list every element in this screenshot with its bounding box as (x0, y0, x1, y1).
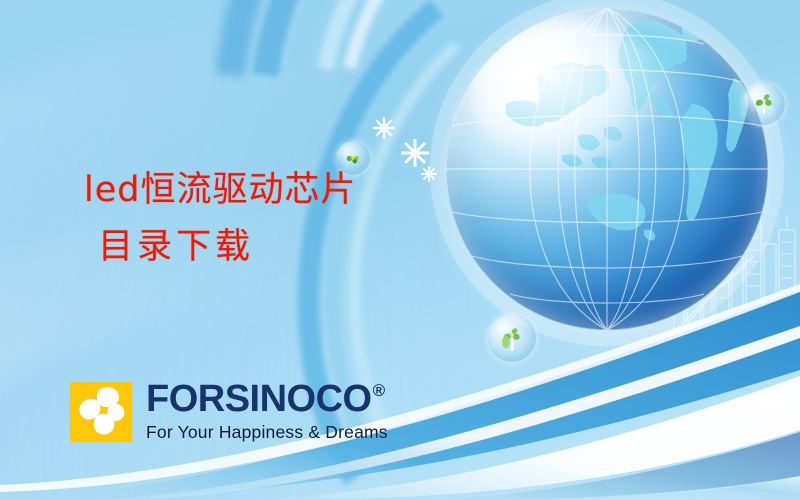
brand-text-block: FORSINOCO ® For Your Happiness & Dreams (146, 380, 388, 442)
globe-sphere (446, 8, 768, 330)
registered-trademark-icon: ® (373, 382, 385, 399)
headline-line-2: 目录下载 (84, 219, 356, 276)
promotional-banner: led恒流驱动芯片 目录下载 FORSINOCO ® For Your Happ… (0, 0, 800, 500)
page-title: led恒流驱动芯片 目录下载 (84, 162, 356, 275)
bubble-eco-icon (743, 83, 785, 125)
four-petal-flower-icon (70, 382, 132, 442)
globe-graticule (446, 8, 768, 330)
headline-line-1: led恒流驱动芯片 (84, 170, 356, 210)
brand-tagline: For Your Happiness & Dreams (146, 424, 388, 442)
forsinoco-mark-icon (70, 382, 132, 442)
eco-leaf-icon (750, 90, 778, 118)
globe-grid (446, 8, 768, 330)
wind-turbine-icon (496, 322, 528, 354)
earth-globe (446, 8, 768, 330)
sparkle-star-icon (373, 117, 395, 139)
brand-name-row: FORSINOCO ® (146, 380, 388, 418)
bubble-wind-turbine (488, 314, 536, 362)
sparkle-star-icon (401, 139, 429, 167)
brand-logo: FORSINOCO ® For Your Happiness & Dreams (70, 382, 388, 442)
brand-name: FORSINOCO (146, 380, 372, 418)
sparkle-star-icon (421, 166, 437, 182)
